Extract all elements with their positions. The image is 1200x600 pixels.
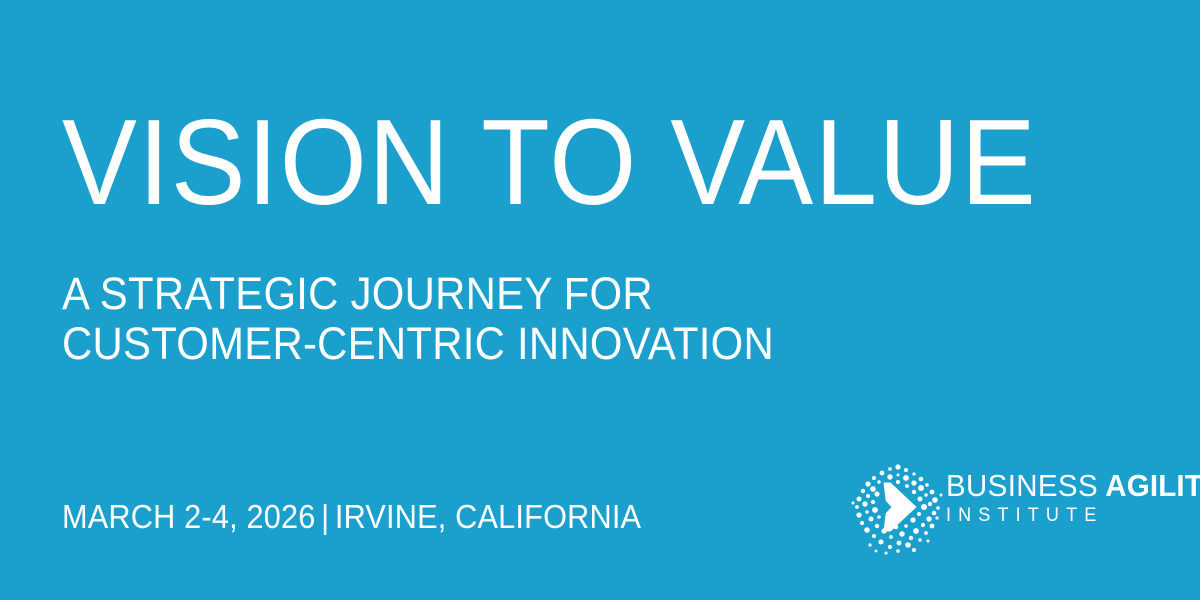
- subtitle-line-1: A STRATEGIC JOURNEY FOR: [62, 269, 774, 319]
- chevron-dot-cloud-icon: [846, 455, 950, 559]
- subtitle-line-2: CUSTOMER-CENTRIC INNOVATION: [62, 319, 774, 369]
- logo: BUSINESS AGILITY INSTITUTE: [846, 455, 1176, 565]
- subtitle: A STRATEGIC JOURNEY FOR CUSTOMER-CENTRIC…: [62, 269, 774, 369]
- event-date-location: MARCH 2-4, 2026|IRVINE, CALIFORNIA: [62, 499, 641, 535]
- event-banner: VISION TO VALUE A STRATEGIC JOURNEY FOR …: [0, 0, 1200, 600]
- event-location: IRVINE, CALIFORNIA: [335, 498, 641, 535]
- separator: |: [316, 499, 335, 535]
- logo-wordmark: BUSINESS AGILITY INSTITUTE: [946, 469, 1176, 527]
- logo-word-agility: AGILITY: [1098, 468, 1200, 503]
- page-title: VISION TO VALUE: [62, 101, 1037, 223]
- logo-primary-line: BUSINESS AGILITY: [946, 469, 1165, 502]
- event-date: MARCH 2-4, 2026: [62, 498, 316, 535]
- logo-word-business: BUSINESS: [946, 468, 1098, 503]
- logo-tagline: INSTITUTE: [946, 505, 1165, 527]
